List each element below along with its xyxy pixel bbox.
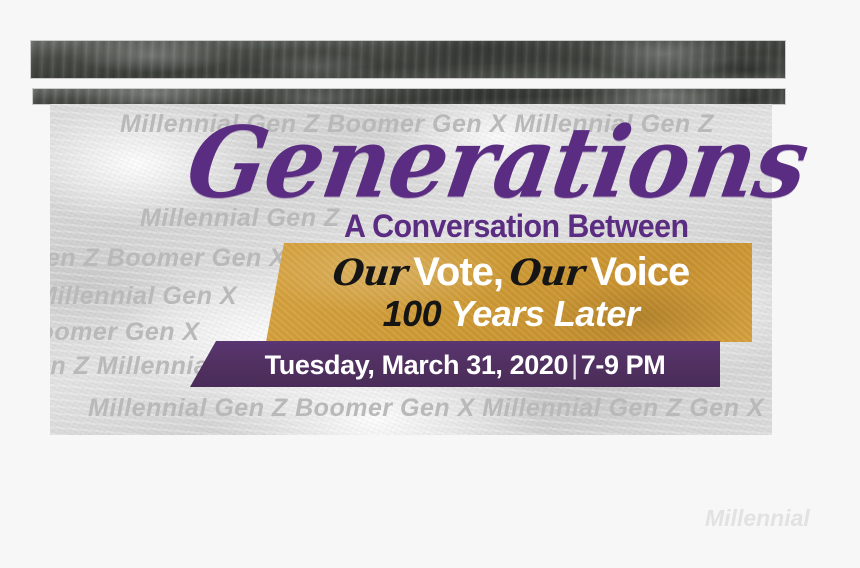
- event-date-time: Tuesday, March 31, 2020|7-9 PM: [230, 350, 700, 381]
- watermark-outside: Millennial: [705, 505, 810, 532]
- tagline-voice: Voice: [591, 250, 690, 294]
- watermark-row: Boomer Gen X: [50, 318, 200, 347]
- watermark-row: Millennial Gen Z Boomer Gen X Millennial…: [88, 394, 764, 423]
- tagline-years-later: Years Later: [450, 293, 639, 334]
- tagline-number: 100: [383, 293, 442, 334]
- tagline-line-one: OurVote,OurVoice: [286, 252, 736, 292]
- date-separator: |: [568, 350, 581, 380]
- watermark-row: Gen Z Boomer Gen X: [50, 244, 286, 273]
- watermark-row: Millennial Gen X: [50, 282, 237, 311]
- tagline-vote: Vote,: [413, 250, 503, 294]
- decorative-second-bar: [33, 89, 785, 104]
- tagline-our-first: Our: [331, 255, 408, 291]
- event-date: Tuesday, March 31, 2020: [265, 350, 568, 380]
- event-time: 7-9 PM: [581, 350, 666, 380]
- flyer-headline: Generations: [182, 118, 766, 208]
- decorative-top-bar: [31, 41, 785, 78]
- tagline-our-second: Our: [508, 255, 585, 291]
- flyer-canvas: Millennial Gen Z Boomer Gen X Millennial…: [0, 0, 860, 568]
- flyer-subheadline: A Conversation Between: [344, 208, 688, 245]
- tagline-line-two: 100 Years Later: [286, 296, 736, 332]
